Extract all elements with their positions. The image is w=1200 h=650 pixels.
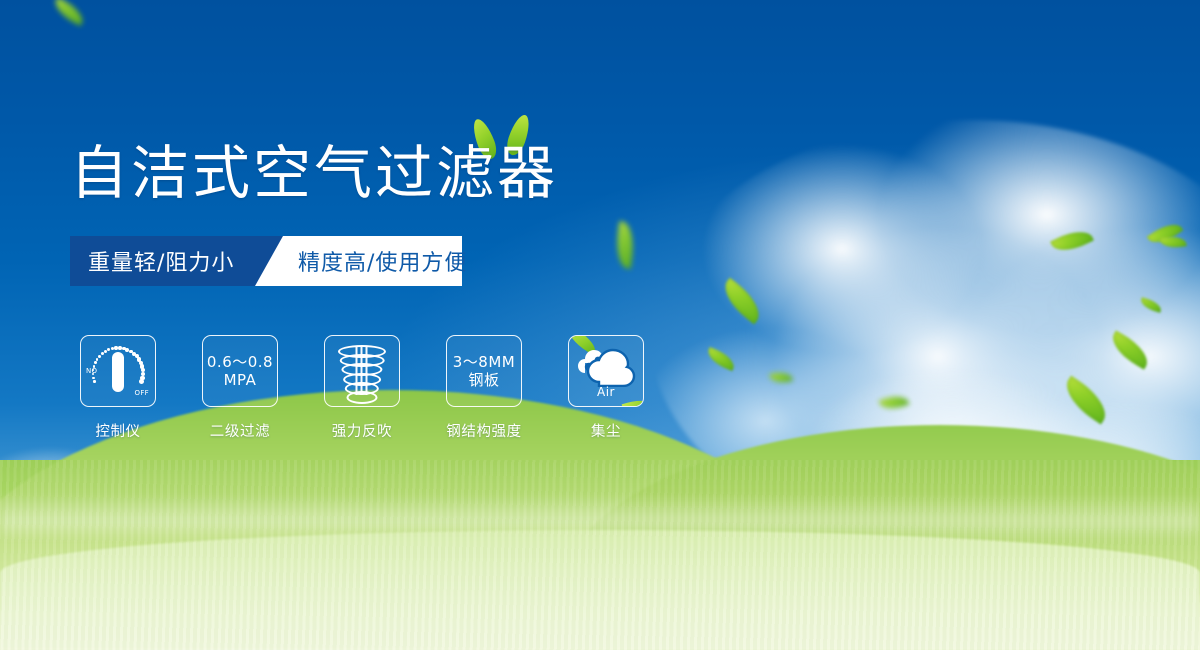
cloud-shape-icon	[575, 343, 637, 387]
feature-box-dust[interactable]: Air	[568, 335, 644, 407]
feature-list: NO OFF 控制仪 0.6～0.8 MPA 二级过滤 强力反吹 3～8MM 钢…	[70, 335, 654, 441]
gauge-icon: NO OFF	[85, 340, 151, 402]
feature-box-backblow[interactable]	[324, 335, 400, 407]
steel-plate-icon: 3～8MM 钢板	[453, 353, 515, 390]
subtitle-text-right: 精度高/使用方便	[298, 236, 467, 286]
coil-icon	[335, 343, 389, 399]
gauge-tick-dot	[93, 380, 95, 382]
feature-item-steel[interactable]: 3～8MM 钢板 钢结构强度	[436, 335, 532, 441]
feature-box-steel[interactable]: 3～8MM 钢板	[446, 335, 522, 407]
pressure-icon: 0.6～0.8 MPA	[207, 353, 273, 390]
subtitle-bar: 重量轻/阻力小 精度高/使用方便	[70, 236, 462, 286]
gauge-tick-dot	[94, 361, 97, 364]
feature-label-backblow: 强力反吹	[332, 420, 392, 441]
feature-label-pressure: 二级过滤	[210, 420, 270, 441]
gauge-needle	[112, 352, 124, 392]
feature-item-pressure[interactable]: 0.6～0.8 MPA 二级过滤	[192, 335, 288, 441]
gauge-tick-dot	[92, 377, 94, 379]
feature-label-controller: 控制仪	[95, 420, 140, 441]
feature-box-pressure[interactable]: 0.6～0.8 MPA	[202, 335, 278, 407]
feature-item-backblow[interactable]: 强力反吹	[314, 335, 410, 441]
product-banner: 自洁式空气过滤器 重量轻/阻力小 精度高/使用方便 NO OFF 控制仪 0.6…	[0, 0, 1200, 650]
gauge-tick-dot	[93, 365, 96, 368]
coil-ring	[347, 391, 378, 404]
grass-texture	[0, 460, 1200, 650]
feature-box-controller[interactable]: NO OFF	[80, 335, 156, 407]
gauge-label-off: OFF	[135, 389, 149, 397]
gauge-tick-dot	[101, 352, 104, 355]
gauge-tick-dot	[96, 358, 99, 361]
feature-item-dust[interactable]: Air 集尘	[558, 335, 654, 441]
gauge-tick-dot	[104, 350, 107, 353]
feature-label-dust: 集尘	[591, 420, 621, 441]
cloud-air-label: Air	[575, 385, 637, 399]
feature-item-controller[interactable]: NO OFF 控制仪	[70, 335, 166, 441]
feature-label-steel: 钢结构强度	[446, 420, 522, 441]
subtitle-text-left: 重量轻/阻力小	[88, 236, 234, 286]
gauge-tick-dot	[139, 379, 144, 384]
gauge-tick-dot	[98, 355, 101, 358]
gauge-tick-dot	[107, 348, 110, 351]
page-title: 自洁式空气过滤器	[70, 144, 558, 202]
cloud-air-icon: Air	[575, 343, 637, 399]
